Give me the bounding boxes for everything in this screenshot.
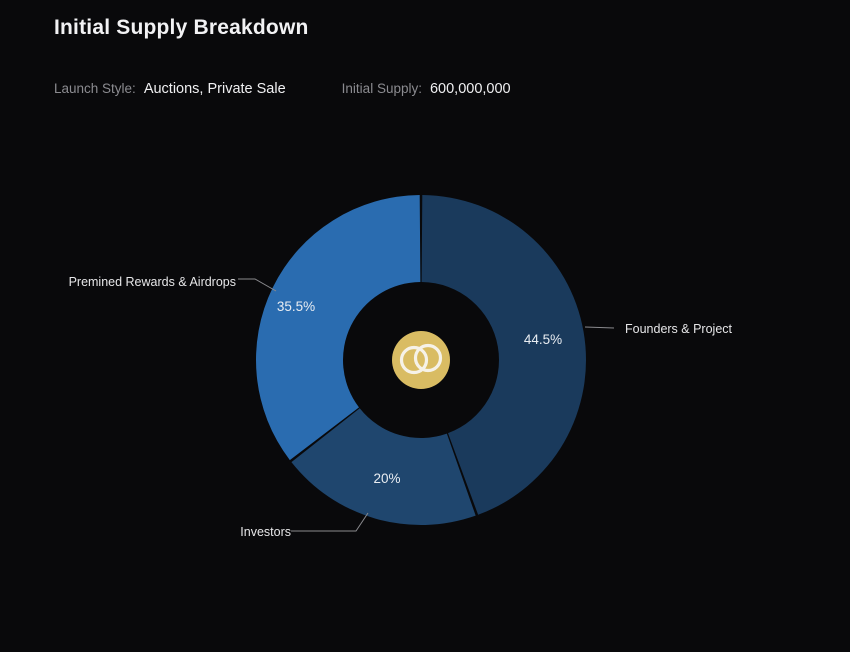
slice-category-label: Founders & Project [625, 322, 733, 336]
meta-initial-supply-value: 600,000,000 [430, 81, 511, 97]
supply-donut-chart: 44.5%20%35.5% Founders & ProjectInvestor… [0, 0, 850, 652]
leader-line [585, 327, 614, 328]
initial-supply-breakdown-page: Initial Supply Breakdown Launch Style: A… [0, 0, 850, 652]
logo-disc [392, 331, 450, 389]
donut-chart-svg: 44.5%20%35.5% Founders & ProjectInvestor… [0, 0, 850, 652]
logo-ring-left-icon [402, 348, 427, 373]
leader-line [238, 279, 276, 291]
meta-initial-supply: Initial Supply: 600,000,000 [342, 81, 511, 97]
slice-category-label: Investors [240, 525, 291, 539]
center-logo [392, 331, 450, 389]
page-title: Initial Supply Breakdown [54, 16, 309, 40]
meta-initial-supply-label: Initial Supply: [342, 81, 422, 96]
donut-slices[interactable] [256, 195, 586, 525]
meta-launch-style-label: Launch Style: [54, 81, 136, 96]
logo-ring-right-icon [416, 346, 441, 371]
meta-row: Launch Style: Auctions, Private Sale Ini… [54, 81, 511, 97]
leader-line [291, 513, 368, 531]
slice-category-label: Premined Rewards & Airdrops [69, 275, 236, 289]
meta-launch-style-value: Auctions, Private Sale [144, 81, 286, 97]
meta-launch-style: Launch Style: Auctions, Private Sale [54, 81, 286, 97]
donut-slice[interactable] [256, 195, 420, 460]
